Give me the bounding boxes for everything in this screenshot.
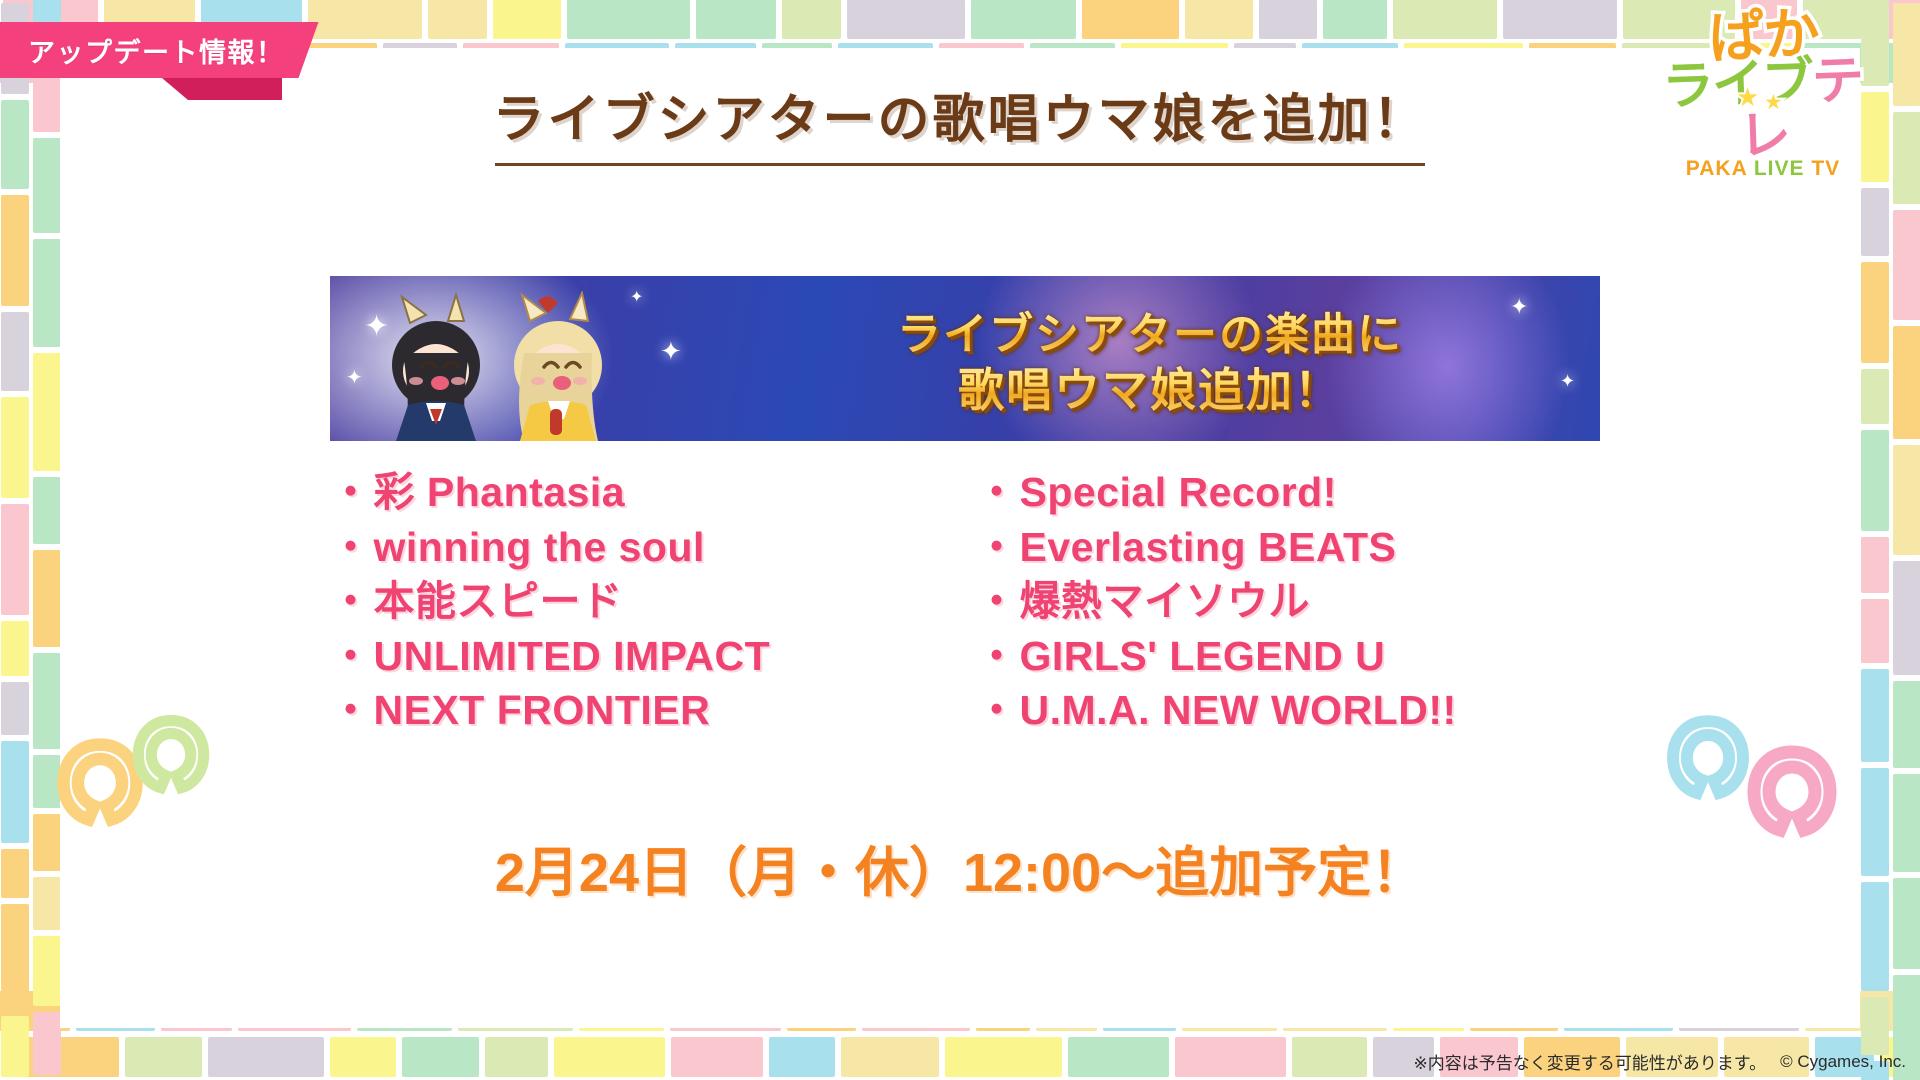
song-title: NEXT FRONTIER	[374, 683, 711, 738]
bullet-icon: ・	[976, 465, 1018, 520]
border-tile	[1893, 210, 1920, 320]
bullet-icon: ・	[976, 683, 1018, 738]
song-title: Everlasting BEATS	[1020, 520, 1397, 575]
star-icon-2: ★	[1764, 90, 1783, 115]
border-tile	[1893, 3, 1920, 106]
song-list-right-column: ・Special Record! ・Everlasting BEATS ・爆熱マ…	[976, 465, 1600, 738]
list-item: ・彩 Phantasia	[330, 465, 954, 520]
list-item: ・Everlasting BEATS	[976, 520, 1600, 575]
song-title: Special Record!	[1020, 465, 1337, 520]
border-tile	[696, 0, 776, 39]
border-tile	[1873, 0, 1920, 39]
border-tile	[1893, 445, 1920, 555]
border-tile	[782, 0, 841, 39]
list-item: ・winning the soul	[330, 520, 954, 575]
chibi-characters-illustration	[352, 291, 682, 441]
logo-romaji-tv: TV	[1811, 157, 1840, 180]
bullet-icon: ・	[976, 629, 1018, 684]
border-tile	[1861, 262, 1889, 363]
song-list-left-column: ・彩 Phantasia ・winning the soul ・本能スピード ・…	[330, 465, 954, 738]
border-tile	[3, 1037, 119, 1077]
list-item: ・NEXT FRONTIER	[330, 683, 954, 738]
horseshoe-icon-bottom-left-2	[128, 712, 214, 798]
bullet-icon: ・	[330, 683, 372, 738]
border-tile	[1, 621, 29, 676]
ribbon-body: アップデート情報！	[0, 22, 319, 78]
border-tile	[33, 550, 61, 647]
horseshoe-icon-bottom-right-2	[1742, 742, 1842, 842]
border-tile	[33, 936, 61, 1006]
border-tile	[33, 477, 61, 544]
border-tile	[1259, 0, 1317, 39]
border-tile	[428, 0, 487, 39]
border-tile	[1, 904, 29, 1010]
list-item: ・U.M.A. NEW WORLD!!	[976, 683, 1600, 738]
song-list: ・彩 Phantasia ・winning the soul ・本能スピード ・…	[330, 465, 1600, 738]
page-title: ライブシアターの歌唱ウマ娘を追加！	[0, 92, 1920, 149]
bullet-icon: ・	[976, 574, 1018, 629]
song-title: U.M.A. NEW WORLD!!	[1020, 683, 1457, 738]
border-tile	[1, 195, 29, 306]
border-tile	[1, 504, 29, 615]
border-tile	[208, 1037, 324, 1077]
border-tile	[1393, 0, 1497, 39]
border-tile	[493, 0, 561, 39]
border-tile	[1175, 1037, 1286, 1077]
border-tile	[567, 0, 690, 39]
border-tile	[1, 682, 29, 735]
border-tile	[1503, 0, 1617, 39]
bullet-icon: ・	[976, 520, 1018, 575]
list-item: ・Special Record!	[976, 465, 1600, 520]
song-title: 爆熱マイソウル	[1020, 574, 1311, 629]
key-visual-line1: ライブシアターの楽曲に	[715, 298, 1585, 362]
border-tile	[1893, 681, 1920, 768]
border-tile	[671, 1037, 763, 1077]
border-tile	[769, 1037, 835, 1077]
border-tile	[1082, 0, 1179, 39]
bullet-icon: ・	[330, 465, 372, 520]
list-item: ・本能スピード	[330, 574, 954, 629]
border-tile	[1861, 997, 1889, 1055]
list-item: ・UNLIMITED IMPACT	[330, 629, 954, 684]
horseshoe-icon-bottom-right-1	[1662, 712, 1754, 804]
border-tile	[1068, 1037, 1169, 1077]
ribbon-label: アップデート情報！	[28, 31, 285, 70]
border-tile	[1893, 326, 1920, 439]
copyright-text: © Cygames, Inc.	[1780, 1052, 1906, 1072]
title-block: ライブシアターの歌唱ウマ娘を追加！	[0, 92, 1920, 166]
border-tile	[1, 1016, 29, 1077]
bullet-icon: ・	[330, 574, 372, 629]
footer-note: ※内容は予告なく変更する可能性があります。 © Cygames, Inc.	[1414, 1049, 1906, 1074]
border-tile	[554, 1037, 665, 1077]
border-tile	[485, 1037, 548, 1077]
border-tile	[33, 1012, 61, 1075]
border-tile	[402, 1037, 479, 1077]
song-title: 彩 Phantasia	[374, 465, 626, 520]
border-tile	[1, 397, 29, 498]
list-item: ・爆熱マイソウル	[976, 574, 1600, 629]
border-tile	[330, 1037, 396, 1077]
disclaimer-text: ※内容は予告なく変更する可能性があります。	[1414, 1049, 1767, 1074]
release-schedule-text: 2月24日（月・休）12:00〜追加予定！	[0, 828, 1920, 907]
border-tile	[971, 0, 1076, 39]
star-icon-1: ★	[1736, 82, 1759, 113]
border-tile	[1861, 669, 1889, 762]
border-tile	[1905, 43, 1920, 83]
border-tile	[1861, 599, 1889, 663]
border-tile	[125, 1037, 202, 1077]
border-tile	[1, 312, 29, 391]
border-tile	[945, 1037, 1062, 1077]
border-tile	[1893, 561, 1920, 675]
border-tile	[841, 1037, 939, 1077]
border-tile	[33, 239, 61, 347]
title-underline	[495, 163, 1425, 166]
key-visual-banner: ✦ ✦ ✦ ✦ ✦ ✦	[330, 276, 1600, 441]
border-tile	[1323, 0, 1387, 39]
update-info-ribbon: アップデート情報！	[0, 22, 319, 78]
border-tile	[1185, 0, 1253, 39]
song-title: winning the soul	[374, 520, 705, 575]
bullet-icon: ・	[330, 629, 372, 684]
paka-live-tv-logo: ぱか ライブテレ PAKA LIVE TV ★ ★	[1648, 8, 1878, 158]
song-title: GIRLS' LEGEND U	[1020, 629, 1386, 684]
border-tile	[1861, 369, 1889, 424]
border-tile	[1292, 1037, 1367, 1077]
bullet-icon: ・	[330, 520, 372, 575]
border-tile	[1900, 991, 1920, 1031]
song-title: UNLIMITED IMPACT	[374, 629, 771, 684]
key-visual-line2: 歌唱ウマ娘追加！	[715, 354, 1585, 420]
logo-line-live-tv: ライブテレ	[1646, 54, 1879, 166]
song-title: 本能スピード	[374, 574, 623, 629]
border-tile	[847, 0, 965, 39]
border-tile	[33, 353, 61, 471]
border-tile	[1861, 430, 1889, 531]
border-tile	[308, 0, 422, 39]
border-tile	[1861, 188, 1889, 256]
border-tile	[1861, 537, 1889, 593]
list-item: ・GIRLS' LEGEND U	[976, 629, 1600, 684]
